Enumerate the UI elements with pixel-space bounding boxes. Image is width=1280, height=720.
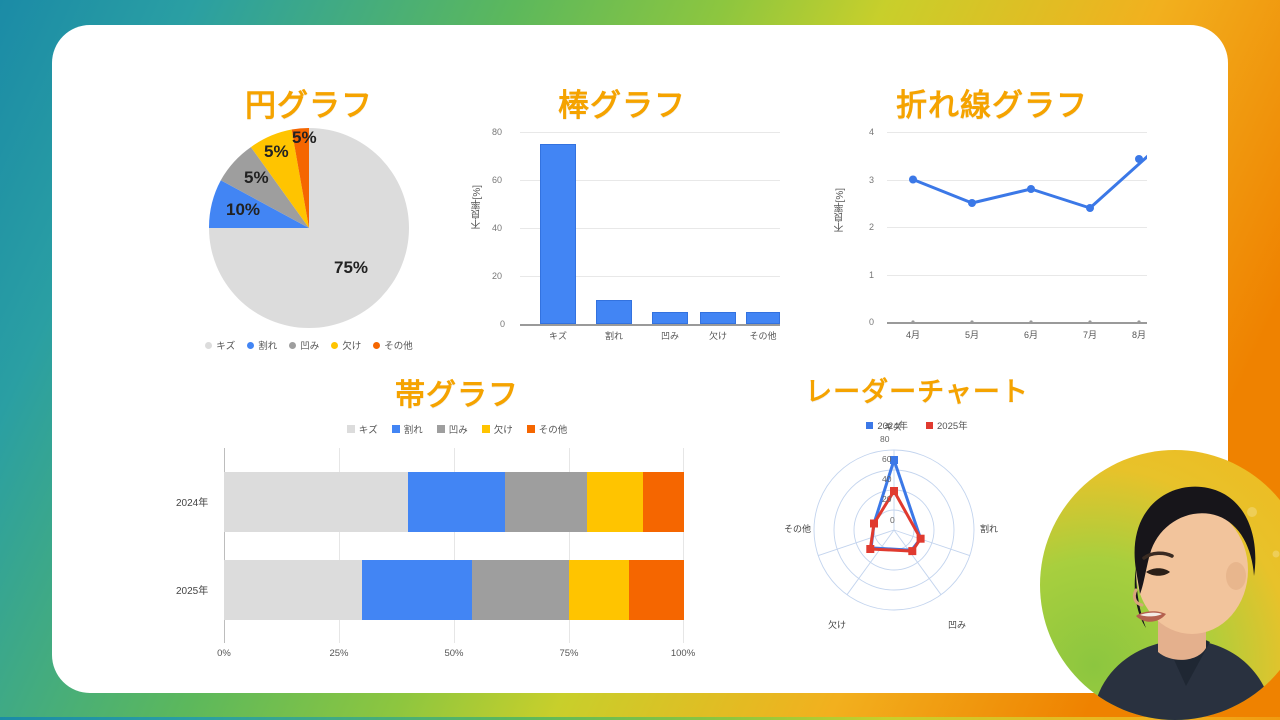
- bar-xtick-hekomi: 凹み: [648, 329, 692, 342]
- line-xtickmark-2: [970, 320, 973, 322]
- bar-ytick-40: 40: [492, 223, 502, 233]
- legend-dot-icon-ware: [247, 342, 254, 349]
- legend-square-icon-kizu: [347, 425, 355, 433]
- band-legend-label-ware: 割れ: [404, 422, 423, 436]
- radar-chart-title: レーダーチャート: [752, 370, 1082, 409]
- bar-hekomi[interactable]: [652, 312, 688, 324]
- legend-label-kake: 欠け: [342, 338, 361, 352]
- radar-rtick-80: 80: [880, 434, 889, 444]
- legend-item-ware[interactable]: 割れ: [247, 338, 277, 352]
- legend-square-icon-ware: [392, 425, 400, 433]
- line-xtickmark-3: [1029, 320, 1032, 322]
- bar-ytick-60: 60: [492, 175, 502, 185]
- line-xtick-5gatsu: 5月: [952, 328, 992, 341]
- band-segment-2024-ware[interactable]: [408, 472, 505, 532]
- bar-ware[interactable]: [596, 300, 632, 324]
- line-xtickmark-4: [1088, 320, 1091, 322]
- pie-label-hekomi: 5%: [244, 168, 269, 188]
- band-legend-label-hekomi: 凹み: [449, 422, 468, 436]
- band-chart-title: 帯グラフ: [172, 370, 742, 414]
- radar-axis-label-sonota: その他: [784, 522, 811, 535]
- line-point-8gatsu[interactable]: [1135, 155, 1143, 163]
- line-xtickmark-1: [911, 320, 914, 322]
- legend-label-sonota: その他: [384, 338, 413, 352]
- band-ylabel-2025: 2025年: [176, 582, 208, 597]
- band-legend-label-kizu: キズ: [359, 422, 378, 436]
- bar-xtick-ware: 割れ: [592, 329, 636, 342]
- radar-legend-label-2025: 2025年: [937, 418, 968, 432]
- radar-chart-legend: 2024年 2025年: [797, 418, 1037, 432]
- legend-dot-icon-sonota: [373, 342, 380, 349]
- band-row-2025: 2025年: [224, 560, 684, 620]
- legend-square-icon-2025: [926, 422, 933, 429]
- bar-sonota[interactable]: [746, 312, 780, 324]
- band-xtick-100: 100%: [671, 648, 695, 659]
- band-legend-label-sonota: その他: [539, 422, 568, 436]
- line-chart-svg: [887, 132, 1147, 322]
- line-xtickmark-5: [1137, 320, 1140, 322]
- radar-rtick-60: 60: [882, 454, 891, 464]
- legend-label-kizu: キズ: [216, 338, 235, 352]
- legend-item-kake[interactable]: 欠け: [331, 338, 361, 352]
- band-legend-item-hekomi[interactable]: 凹み: [437, 422, 468, 436]
- band-xtick-0: 0%: [217, 648, 231, 659]
- band-segment-2024-sonota[interactable]: [643, 472, 684, 532]
- line-ytick-2: 2: [869, 222, 874, 232]
- bar-ytick-20: 20: [492, 271, 502, 281]
- line-axis-line: [887, 322, 1147, 324]
- pie-chart-title: 円グラフ: [144, 80, 474, 125]
- line-point-6gatsu[interactable]: [1027, 185, 1035, 193]
- line-chart-plot-area: 4月 5月 6月 7月 8月: [887, 132, 1147, 322]
- pie-label-kizu: 75%: [334, 258, 368, 278]
- band-segment-2024-hekomi[interactable]: [505, 472, 588, 532]
- bar-xtick-kizu: キズ: [536, 329, 580, 342]
- legend-dot-icon-kizu: [205, 342, 212, 349]
- band-legend-item-kizu[interactable]: キズ: [347, 422, 378, 436]
- radar-axis-label-ware: 割れ: [980, 522, 998, 535]
- radar-rtick-40: 40: [882, 474, 891, 484]
- line-xtick-7gatsu: 7月: [1070, 328, 1110, 341]
- band-segment-2025-hekomi[interactable]: [472, 560, 569, 620]
- line-ytick-4: 4: [869, 127, 874, 137]
- line-series-path: [913, 155, 1147, 208]
- legend-square-icon-hekomi: [437, 425, 445, 433]
- line-ytick-1: 1: [869, 270, 874, 280]
- legend-label-hekomi: 凹み: [300, 338, 319, 352]
- band-legend-item-sonota[interactable]: その他: [527, 422, 568, 436]
- radar-axis-label-hekomi: 凹み: [948, 618, 966, 631]
- band-legend-item-kake[interactable]: 欠け: [482, 422, 513, 436]
- band-segment-2025-ware[interactable]: [362, 560, 472, 620]
- pie-chart-svg: [184, 128, 434, 328]
- band-segment-2025-kizu[interactable]: [224, 560, 362, 620]
- pie-chart-panel: 円グラフ 75% 10% 5% 5% 5% キズ 割れ 凹み 欠け その他: [144, 80, 474, 370]
- legend-item-hekomi[interactable]: 凹み: [289, 338, 319, 352]
- band-legend-label-kake: 欠け: [494, 422, 513, 436]
- band-segment-2025-sonota[interactable]: [629, 560, 684, 620]
- legend-square-icon-2024: [866, 422, 873, 429]
- pie-label-sonota: 5%: [292, 128, 317, 148]
- line-point-4gatsu[interactable]: [909, 176, 917, 184]
- band-xtick-25: 25%: [329, 648, 348, 659]
- legend-item-kizu[interactable]: キズ: [205, 338, 235, 352]
- band-legend-item-ware[interactable]: 割れ: [392, 422, 423, 436]
- band-chart-plot-area: 2024年 2025年 0% 25% 50% 75% 100%: [224, 448, 684, 643]
- band-ylabel-2024: 2024年: [176, 494, 208, 509]
- radar-chart-svg: [792, 432, 1042, 632]
- radar-axis-label-kizu: キズ: [884, 420, 902, 433]
- line-xtick-4gatsu: 4月: [893, 328, 933, 341]
- band-segment-2025-kake[interactable]: [569, 560, 629, 620]
- bar-ytick-0: 0: [500, 319, 505, 329]
- band-segment-2024-kake[interactable]: [587, 472, 642, 532]
- line-xtick-8gatsu: 8月: [1119, 328, 1159, 341]
- radar-rtick-0: 0: [890, 515, 895, 525]
- band-segment-2024-kizu[interactable]: [224, 472, 408, 532]
- bar-xtick-kake: 欠け: [696, 329, 740, 342]
- bar-chart-plot-area: キズ 割れ 凹み 欠け その他: [520, 132, 780, 324]
- line-point-5gatsu[interactable]: [968, 199, 976, 207]
- bar-chart-title: 棒グラフ: [452, 80, 792, 125]
- line-xtick-6gatsu: 6月: [1011, 328, 1051, 341]
- bar-ytick-80: 80: [492, 127, 502, 137]
- radar-axis-label-kake: 欠け: [828, 618, 846, 631]
- pie-chart-legend: キズ 割れ 凹み 欠け その他: [154, 338, 464, 352]
- line-chart-y-axis-label: 不良率[%]: [833, 188, 848, 232]
- presenter-ear: [1226, 562, 1246, 590]
- line-point-7gatsu[interactable]: [1086, 204, 1094, 212]
- bar-axis-line: [520, 324, 780, 326]
- bar-kake[interactable]: [700, 312, 736, 324]
- bar-chart-y-axis-label: 不良率[%]: [470, 185, 485, 229]
- line-chart-panel: 折れ線グラフ 不良率[%] 4 3 2 1 0: [807, 80, 1177, 370]
- bar-gridline-80: [520, 132, 780, 133]
- radar-legend-item-2025[interactable]: 2025年: [926, 418, 968, 432]
- legend-item-sonota[interactable]: その他: [373, 338, 413, 352]
- band-xtick-75: 75%: [559, 648, 578, 659]
- legend-square-icon-kake: [482, 425, 490, 433]
- radar-rtick-20: 20: [882, 494, 891, 504]
- line-ytick-3: 3: [869, 175, 874, 185]
- bar-kizu[interactable]: [540, 144, 576, 324]
- radar-chart-panel: レーダーチャート 2024年 2025年: [752, 370, 1082, 670]
- legend-dot-icon-kake: [331, 342, 338, 349]
- legend-dot-icon-hekomi: [289, 342, 296, 349]
- band-xtick-50: 50%: [444, 648, 463, 659]
- legend-label-ware: 割れ: [258, 338, 277, 352]
- legend-square-icon-sonota: [527, 425, 535, 433]
- bar-chart-panel: 棒グラフ 不良率[%] 80 60 40 20 0 キズ 割れ 凹み 欠け その…: [452, 80, 792, 370]
- pie-label-kake: 5%: [264, 142, 289, 162]
- band-row-2024: 2024年: [224, 472, 684, 532]
- pie-label-ware: 10%: [226, 200, 260, 220]
- bar-xtick-sonota: その他: [740, 329, 786, 342]
- line-ytick-0: 0: [869, 317, 874, 327]
- line-chart-title: 折れ線グラフ: [807, 80, 1177, 125]
- band-chart-panel: 帯グラフ キズ 割れ 凹み 欠け その他 2024年 2025年: [172, 370, 742, 680]
- band-chart-legend: キズ 割れ 凹み 欠け その他: [257, 422, 657, 436]
